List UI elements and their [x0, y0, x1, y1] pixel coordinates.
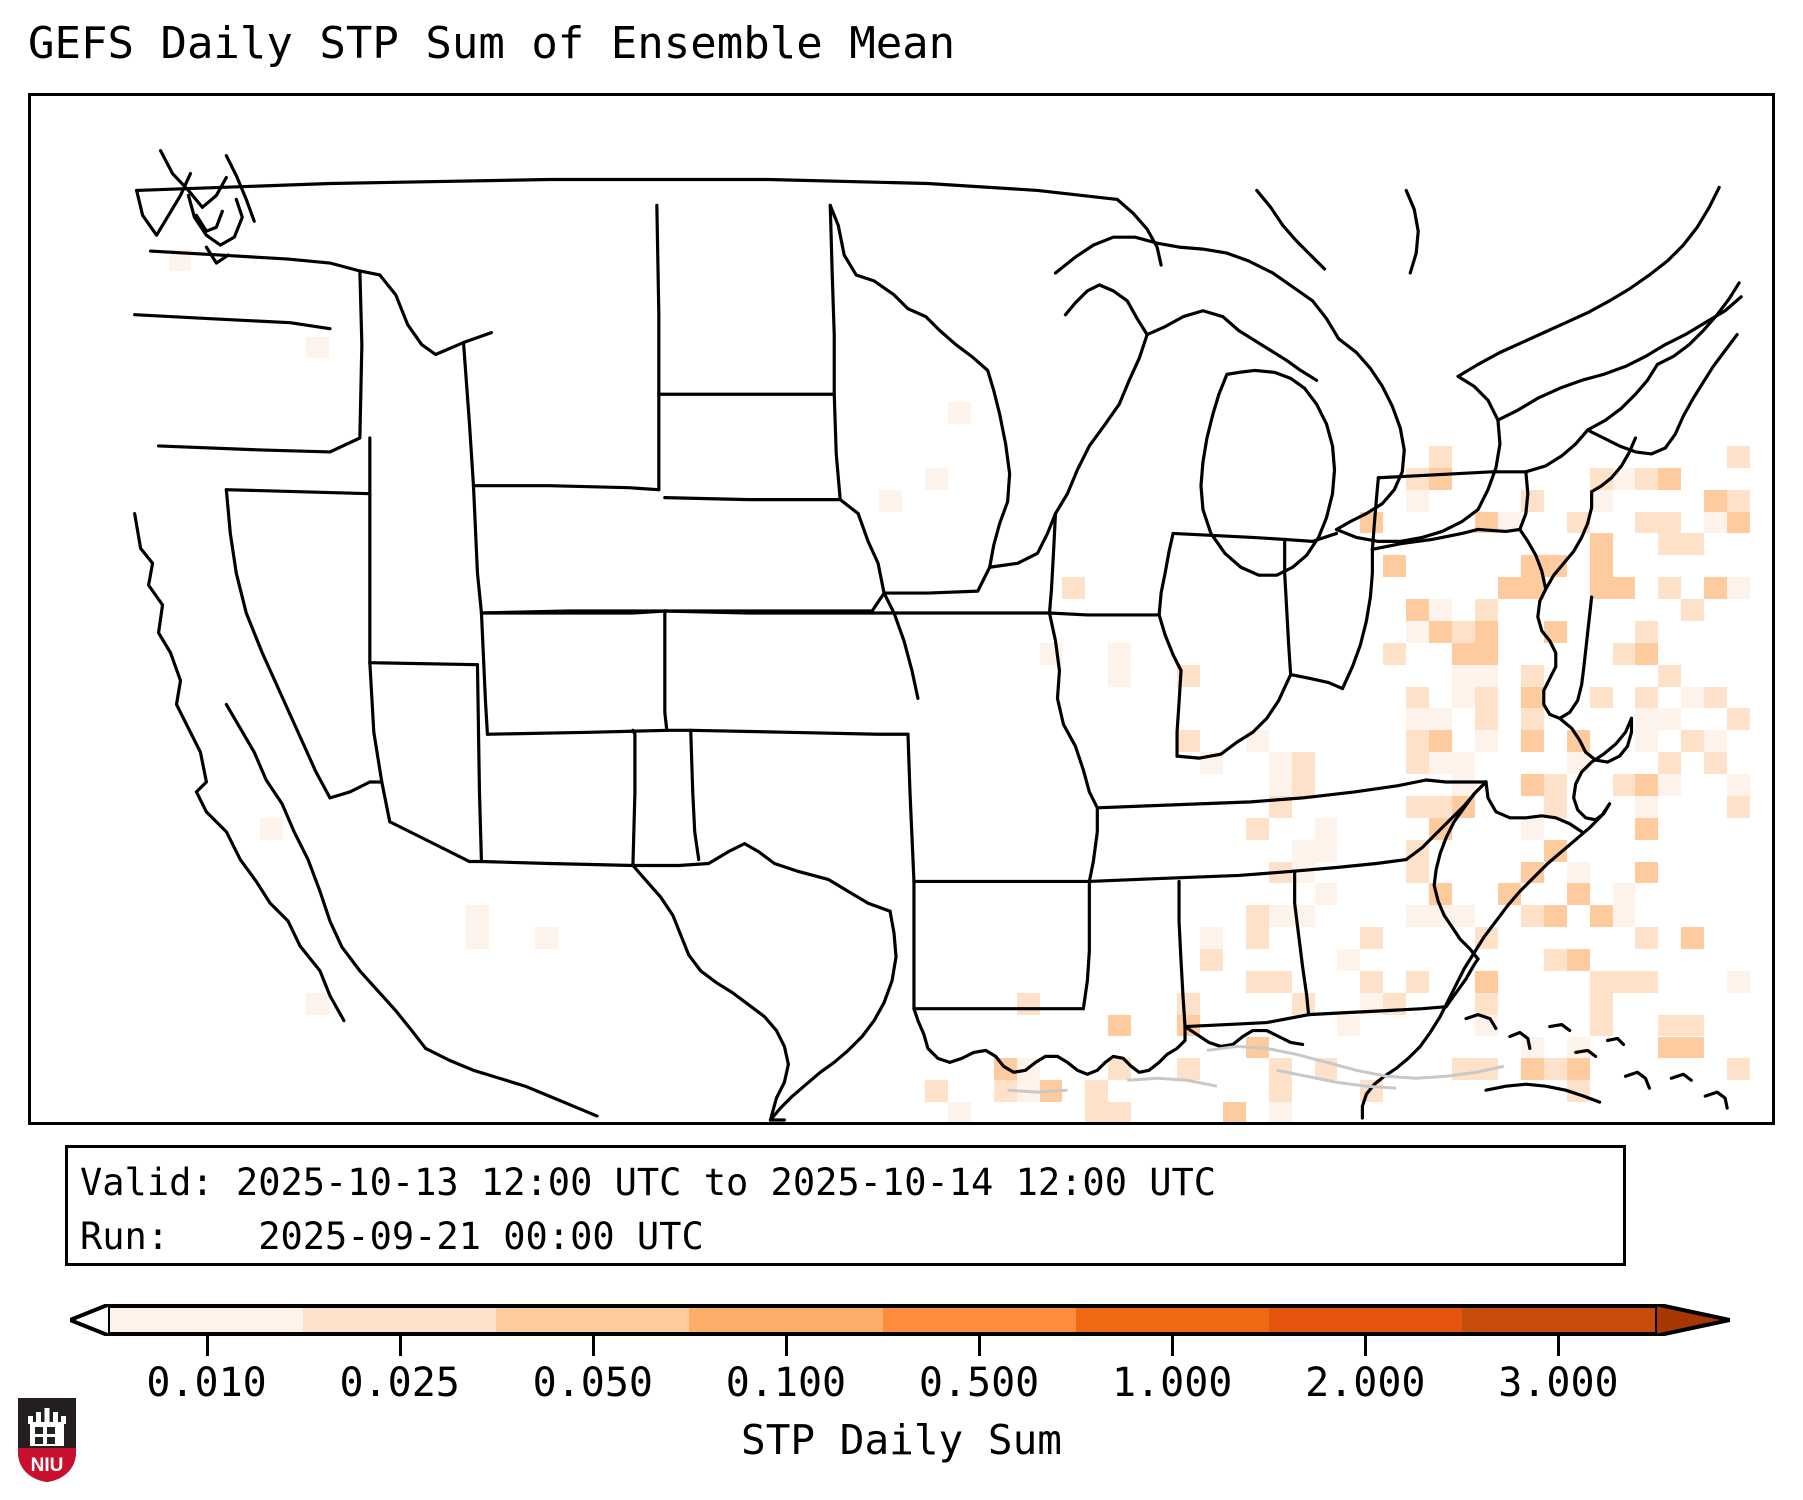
colorbar-tick	[399, 1336, 402, 1356]
map-canvas	[31, 96, 1772, 1122]
page-title: GEFS Daily STP Sum of Ensemble Mean	[28, 18, 955, 69]
colorbar-segment	[303, 1308, 496, 1332]
colorbar-tick-label: 0.010	[146, 1360, 266, 1406]
colorbar-segment	[1462, 1308, 1655, 1332]
colorbar-label: STP Daily Sum	[0, 1416, 1803, 1464]
colorbar-tick	[1364, 1336, 1367, 1356]
colorbar-over-arrow	[1655, 1304, 1730, 1336]
colorbar-tick	[978, 1336, 981, 1356]
colorbar-segment	[1269, 1308, 1462, 1332]
colorbar-tick-label: 3.000	[1498, 1360, 1618, 1406]
colorbar-segment	[110, 1308, 303, 1332]
colorbar-tick-label: 0.050	[533, 1360, 653, 1406]
colorbar-gradient[interactable]	[110, 1304, 1655, 1336]
colorbar-tick	[1557, 1336, 1560, 1356]
colorbar-tick	[1171, 1336, 1174, 1356]
colorbar-tick	[206, 1336, 209, 1356]
colorbar-tick-label: 1.000	[1112, 1360, 1232, 1406]
niu-logo[interactable]: NIU	[16, 1396, 78, 1484]
colorbar-tick-label: 0.100	[726, 1360, 846, 1406]
colorbar-under-arrow	[70, 1304, 110, 1336]
map-axes[interactable]	[28, 93, 1775, 1125]
colorbar-segment	[1076, 1308, 1269, 1332]
colorbar-tick-label: 0.500	[919, 1360, 1039, 1406]
colorbar-tick	[592, 1336, 595, 1356]
weather-map-figure: GEFS Daily STP Sum of Ensemble Mean	[0, 0, 1803, 1500]
colorbar-tick-label: 2.000	[1305, 1360, 1425, 1406]
geography-svg	[31, 96, 1772, 1122]
colorbar-segment	[496, 1308, 689, 1332]
run-time-line: Run: 2025-09-21 00:00 UTC	[80, 1210, 1623, 1264]
info-box: Valid: 2025-10-13 12:00 UTC to 2025-10-1…	[65, 1145, 1626, 1266]
colorbar-segment	[689, 1308, 882, 1332]
colorbar-tick-label: 0.025	[339, 1360, 459, 1406]
valid-time-line: Valid: 2025-10-13 12:00 UTC to 2025-10-1…	[80, 1156, 1623, 1210]
colorbar-tick	[785, 1336, 788, 1356]
colorbar[interactable]: 0.0100.0250.0500.1000.5001.0002.0003.000…	[0, 1290, 1803, 1500]
colorbar-segment	[883, 1308, 1076, 1332]
niu-wordmark: NIU	[31, 1455, 64, 1476]
